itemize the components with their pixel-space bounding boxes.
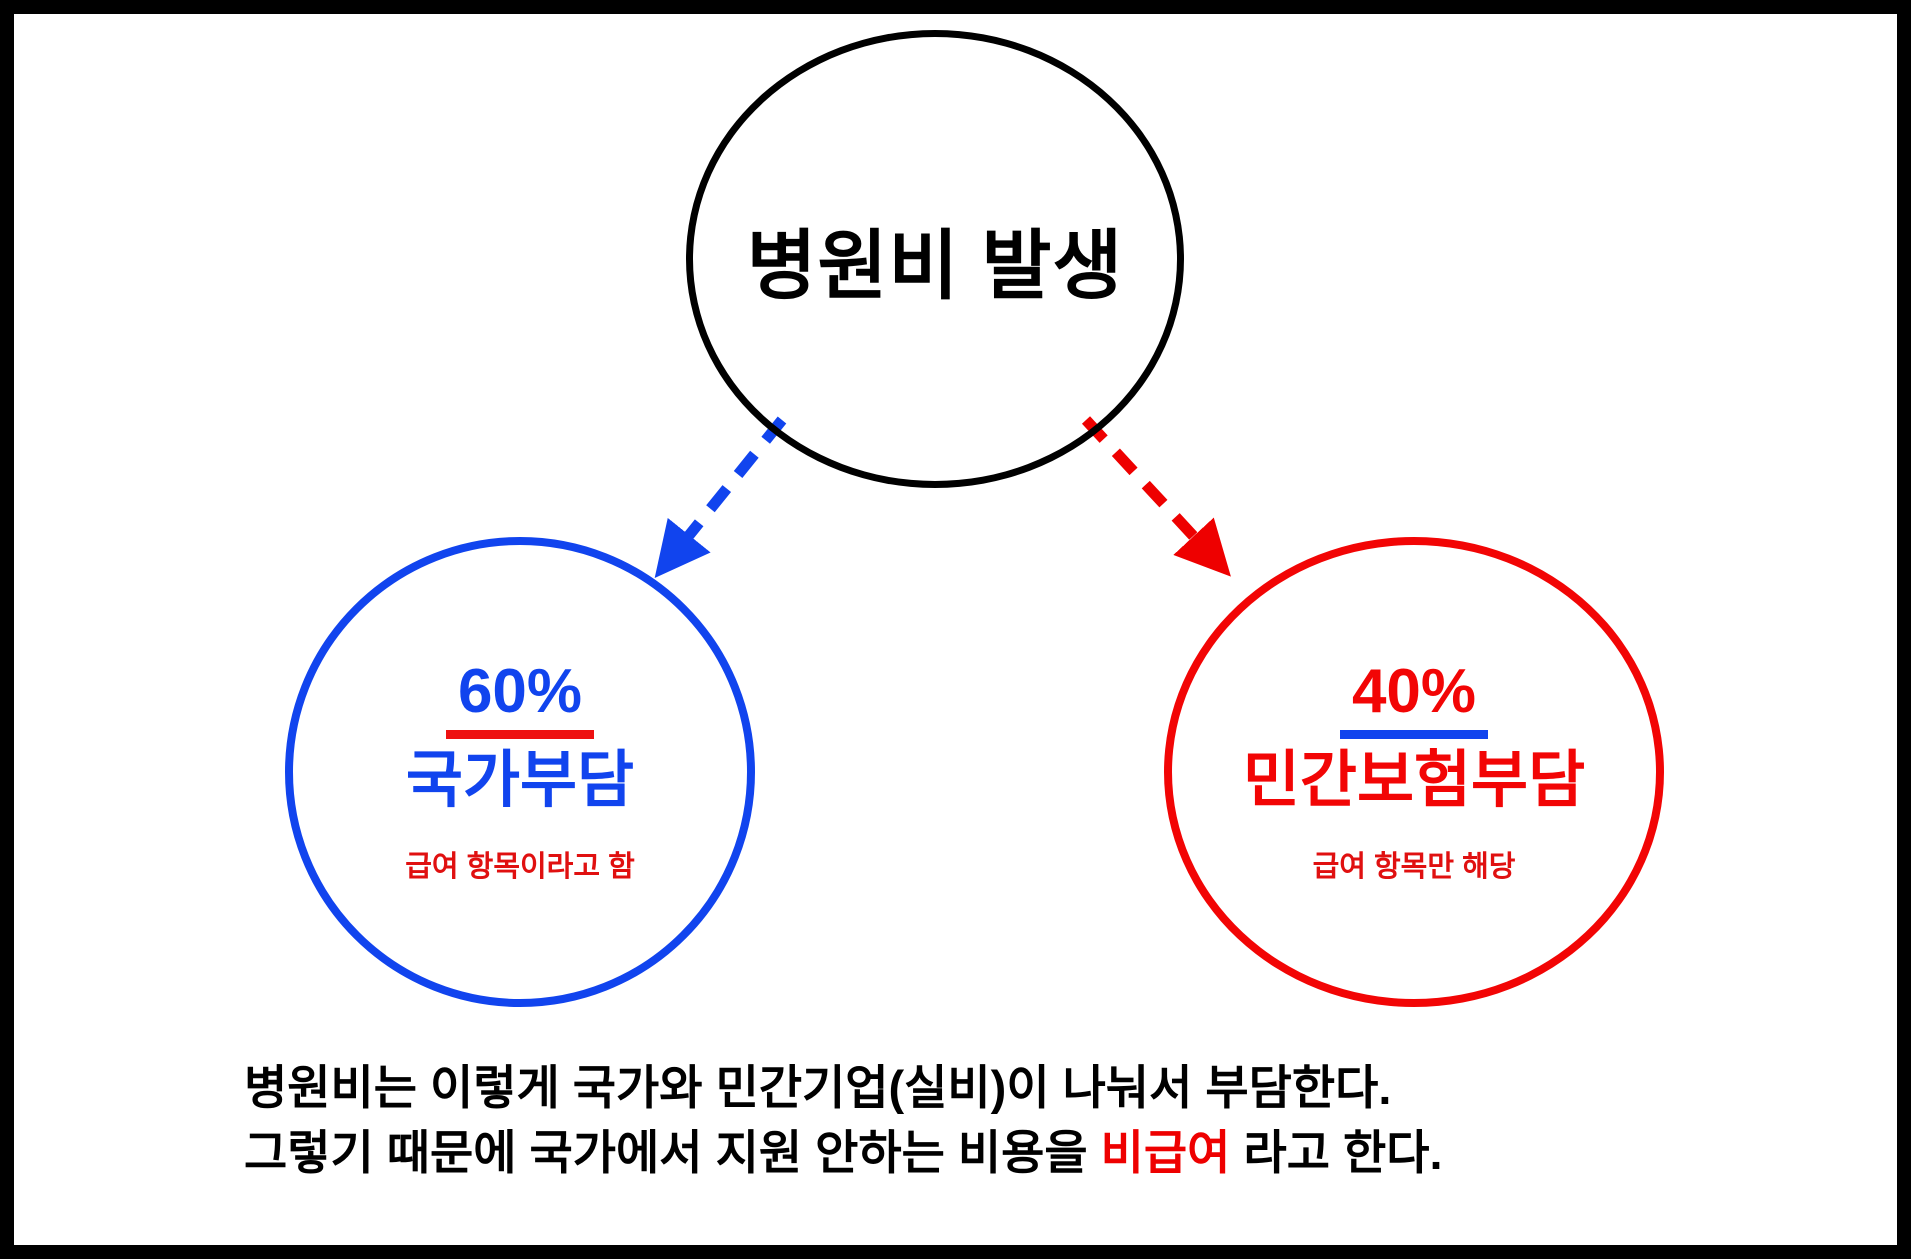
national-percent: 60% <box>446 659 594 739</box>
arrow-to-private <box>1086 420 1210 554</box>
caption-highlight-term: 비급여 <box>1101 1126 1231 1179</box>
private-label: 민간보험부담 <box>1243 745 1585 816</box>
arrow-to-national <box>674 420 782 554</box>
caption-line-2: 그렇기 때문에 국가에서 지원 안하는 비용을 비급여 라고 한다. <box>244 1121 1694 1186</box>
node-hospital-cost-label: 병원비 발생 <box>747 204 1124 314</box>
caption-line-2-before: 그렇기 때문에 국가에서 지원 안하는 비용을 <box>244 1126 1101 1179</box>
national-label: 국가부담 <box>406 745 634 816</box>
node-national-burden[interactable]: 60% 국가부담 급여 항목이라고 함 <box>285 537 755 1007</box>
node-private-insurance-burden[interactable]: 40% 민간보험부담 급여 항목만 해당 <box>1164 537 1664 1007</box>
national-note: 급여 항목이라고 함 <box>405 843 635 885</box>
caption-line-1: 병원비는 이렇게 국가와 민간기업(실비)이 나눠서 부담한다. <box>244 1056 1694 1121</box>
diagram-canvas: 병원비 발생 60% 국가부담 급여 항목이라고 함 40% 민간보험부담 급여… <box>0 0 1911 1259</box>
caption-line-2-after: 라고 한다. <box>1230 1126 1442 1179</box>
caption-block: 병원비는 이렇게 국가와 민간기업(실비)이 나눠서 부담한다. 그렇기 때문에… <box>244 1056 1694 1186</box>
node-hospital-cost[interactable]: 병원비 발생 <box>686 30 1184 488</box>
private-percent: 40% <box>1340 659 1488 739</box>
private-note: 급여 항목만 해당 <box>1313 843 1516 885</box>
diagram-inner-surface: 병원비 발생 60% 국가부담 급여 항목이라고 함 40% 민간보험부담 급여… <box>14 14 1897 1245</box>
